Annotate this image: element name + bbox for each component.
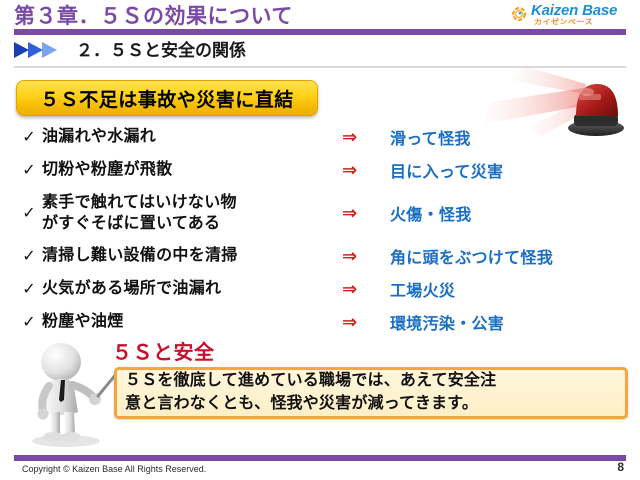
list-item: ✓ 火気がある場所で油漏れ ⇒ 工場火災 <box>16 274 628 304</box>
cause-text: 油漏れや水漏れ <box>42 126 342 147</box>
callout-box: ５Ｓを徹底して進めている職場では、あえて安全注 意と言わなくとも、怪我や災害が減… <box>114 367 628 419</box>
slide: 第３章．５Ｓの効果について Kaizen Base カイゼンベース ２．５Ｓと安… <box>0 0 640 480</box>
callout-line2: 意と言わなくとも、怪我や災害が減ってきます。 <box>125 393 496 416</box>
chevron-right-icon <box>14 40 66 60</box>
risk-list: ✓ 油漏れや水漏れ ⇒ 滑って怪我 ✓ 切粉や粉塵が飛散 ⇒ 目に入って災害 ✓… <box>16 122 628 340</box>
page-title: 第３章．５Ｓの効果について <box>14 0 293 30</box>
list-item: ✓ 切粉や粉塵が飛散 ⇒ 目に入って災害 <box>16 155 628 185</box>
arrow-icon: ⇒ <box>342 127 390 148</box>
section-label: ２．５Ｓと安全の関係 <box>76 36 246 61</box>
gear-icon <box>510 5 528 23</box>
list-item: ✓ 清掃し難い設備の中を清掃 ⇒ 角に頭をぶつけて怪我 <box>16 241 628 271</box>
page-number: 8 <box>617 460 624 474</box>
cause-text: 火気がある場所で油漏れ <box>42 278 342 299</box>
callout-line1: ５Ｓを徹底して進めている職場では、あえて安全注 <box>125 372 496 389</box>
kaizen-base-logo: Kaizen Base カイゼンベース <box>510 2 632 32</box>
list-item: ✓ 素手で触れてはいけない物 がすぐそばに置いてある ⇒ 火傷・怪我 <box>16 188 628 238</box>
arrow-icon: ⇒ <box>342 203 390 224</box>
arrow-icon: ⇒ <box>342 312 390 333</box>
effect-text: 工場火災 <box>390 277 628 301</box>
cause-text: 粉塵や油煙 <box>42 311 342 332</box>
cause-text: 清掃し難い設備の中を清掃 <box>42 245 342 266</box>
headline-banner-text: ５Ｓ不足は事故や災害に直結 <box>40 85 294 112</box>
effect-text: 滑って怪我 <box>390 125 628 149</box>
check-icon: ✓ <box>16 246 42 266</box>
cause-text: 素手で触れてはいけない物 がすぐそばに置いてある <box>42 192 342 234</box>
effect-text: 環境汚染・公害 <box>390 310 628 334</box>
footer-divider <box>14 455 626 461</box>
cause-text-line2: がすぐそばに置いてある <box>42 213 342 234</box>
cause-text: 切粉や粉塵が飛散 <box>42 159 342 180</box>
list-item: ✓ 油漏れや水漏れ ⇒ 滑って怪我 <box>16 122 628 152</box>
check-icon: ✓ <box>16 160 42 180</box>
check-icon: ✓ <box>16 312 42 332</box>
list-item: ✓ 粉塵や油煙 ⇒ 環境汚染・公害 <box>16 307 628 337</box>
cause-text-line1: 素手で触れてはいけない物 <box>42 194 237 211</box>
effect-text: 角に頭をぶつけて怪我 <box>390 244 628 268</box>
arrow-icon: ⇒ <box>342 160 390 181</box>
effect-text: 目に入って災害 <box>390 158 628 182</box>
callout-text: ５Ｓを徹底して進めている職場では、あえて安全注 意と言わなくとも、怪我や災害が減… <box>125 370 496 415</box>
safety-heading: ５Ｓと安全 <box>112 336 215 365</box>
check-icon: ✓ <box>16 127 42 147</box>
arrow-icon: ⇒ <box>342 279 390 300</box>
check-icon: ✓ <box>16 279 42 299</box>
check-icon: ✓ <box>16 203 42 223</box>
arrow-icon: ⇒ <box>342 246 390 267</box>
copyright-text: Copyright © Kaizen Base All Rights Reser… <box>22 464 206 474</box>
logo-kana: カイゼンベース <box>534 17 593 26</box>
presenter-figure-icon <box>16 340 118 448</box>
effect-text: 火傷・怪我 <box>390 201 628 225</box>
headline-banner: ５Ｓ不足は事故や災害に直結 <box>16 80 318 116</box>
